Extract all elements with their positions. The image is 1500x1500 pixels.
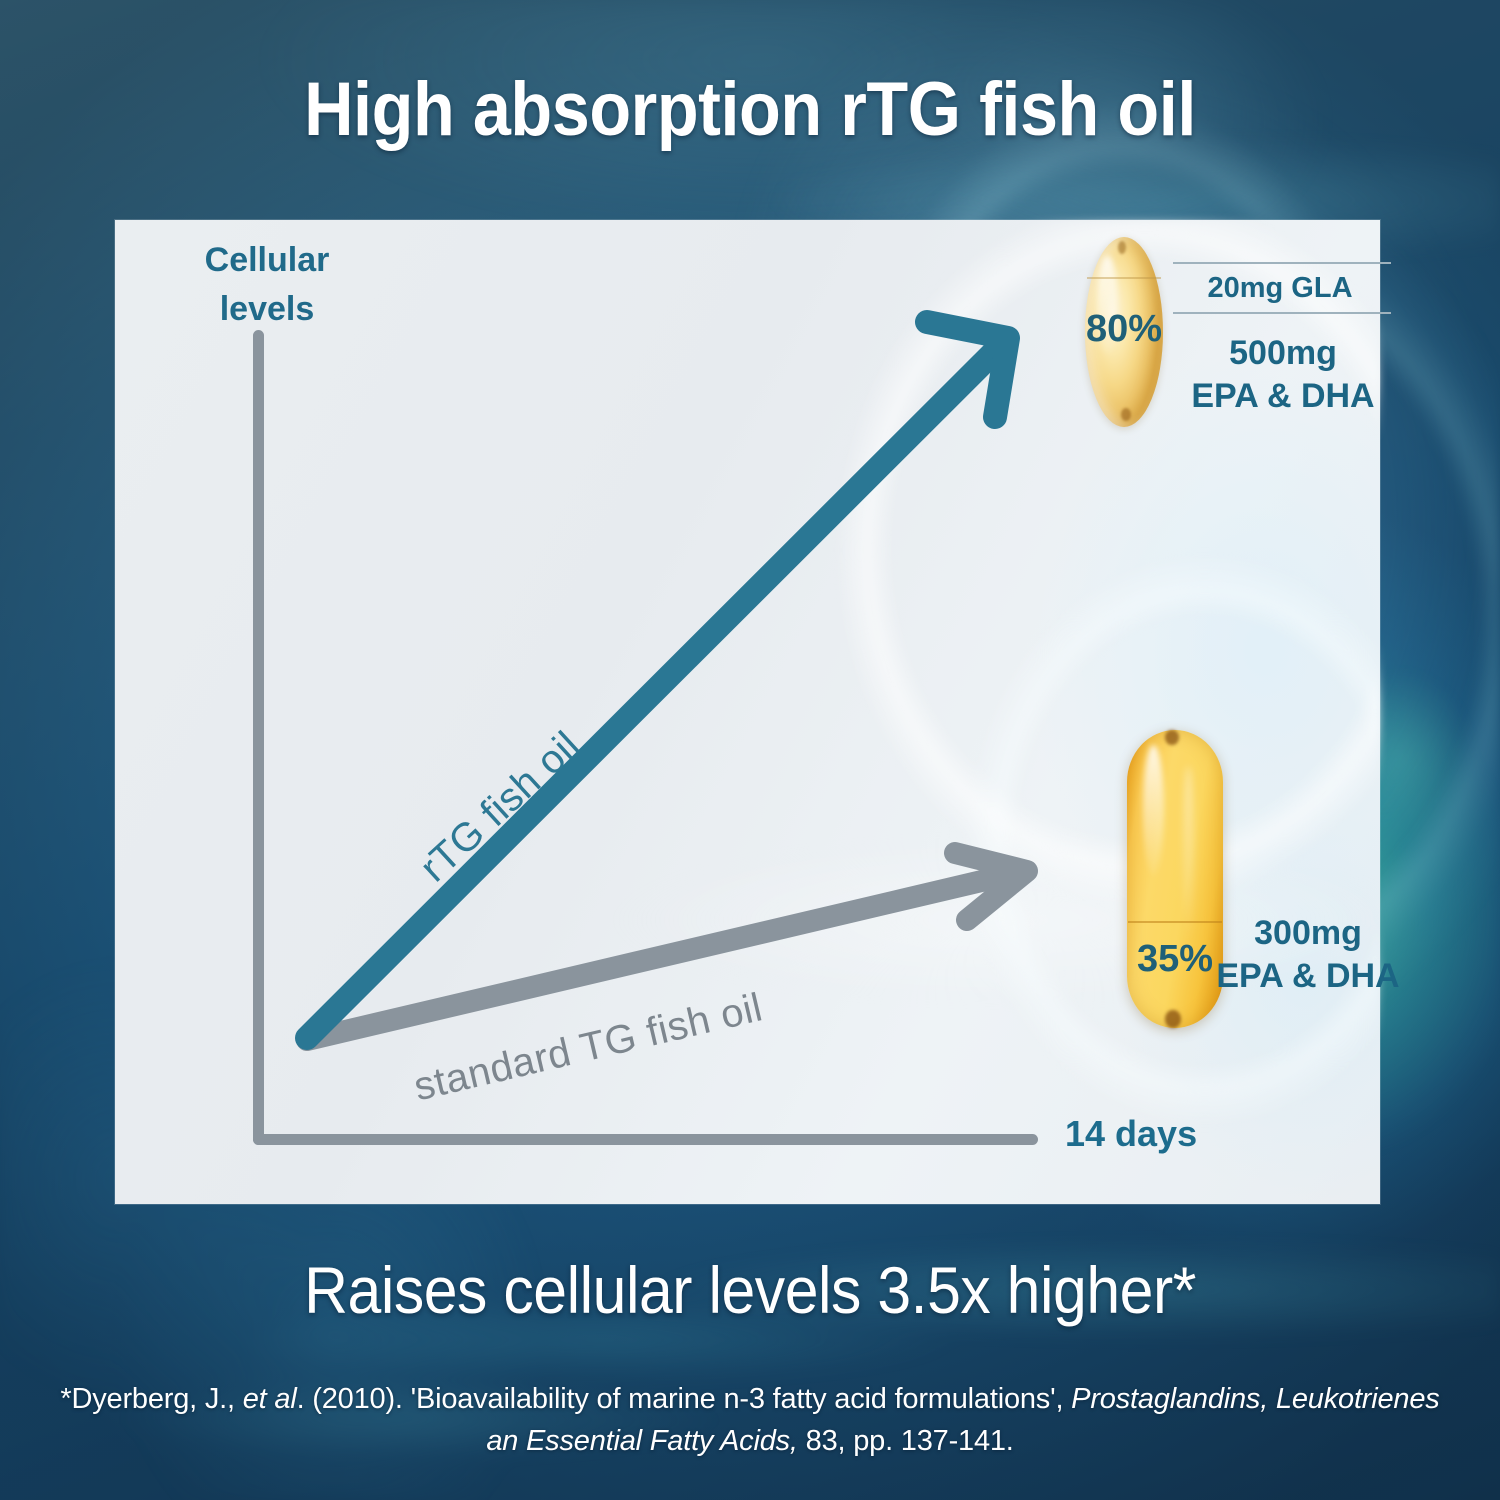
standard-tg-dose-amount: 300mg [1193,912,1423,955]
rtg-dose-callout: 500mg EPA & DHA [1173,332,1393,417]
citation-italic-1: et al [243,1383,297,1415]
standard-tg-dose-callout: 300mg EPA & DHA [1193,912,1423,997]
series-arrow-rtg [307,322,1008,1038]
capsule-highlight [1143,745,1164,876]
chart-panel: Cellular levels 14 days rTG fish oil sta… [115,220,1380,1204]
gla-rule-top [1173,262,1391,264]
rtg-dose-type: EPA & DHA [1173,375,1393,418]
product-infographic: High absorption rTG fish oil Cellular le… [0,0,1500,1500]
capsule-rtg-percent-label: 80% [1085,308,1163,351]
gla-callout-label: 20mg GLA [1165,270,1395,306]
subheadline: Raises cellular levels 3.5x higher* [60,1252,1440,1328]
capsule-seam-line [1087,277,1162,279]
gla-rule-bottom [1173,312,1391,314]
capsule-top-nub [1165,730,1178,745]
standard-tg-dose-type: EPA & DHA [1193,955,1423,998]
citation-part-3: 83, pp. 137-141. [798,1425,1014,1457]
rtg-dose-amount: 500mg [1173,332,1393,375]
capsule-bottom-nub [1121,408,1131,421]
citation-part-1: *Dyerberg, J., [60,1383,242,1415]
page-title: High absorption rTG fish oil [75,66,1425,153]
citation-footnote: *Dyerberg, J., et al. (2010). 'Bioavaila… [0,1378,1500,1462]
capsule-top-nub [1118,241,1127,254]
citation-part-2: . (2010). 'Bioavailability of marine n-3… [297,1383,1072,1415]
capsule-bottom-nub [1165,1010,1180,1028]
